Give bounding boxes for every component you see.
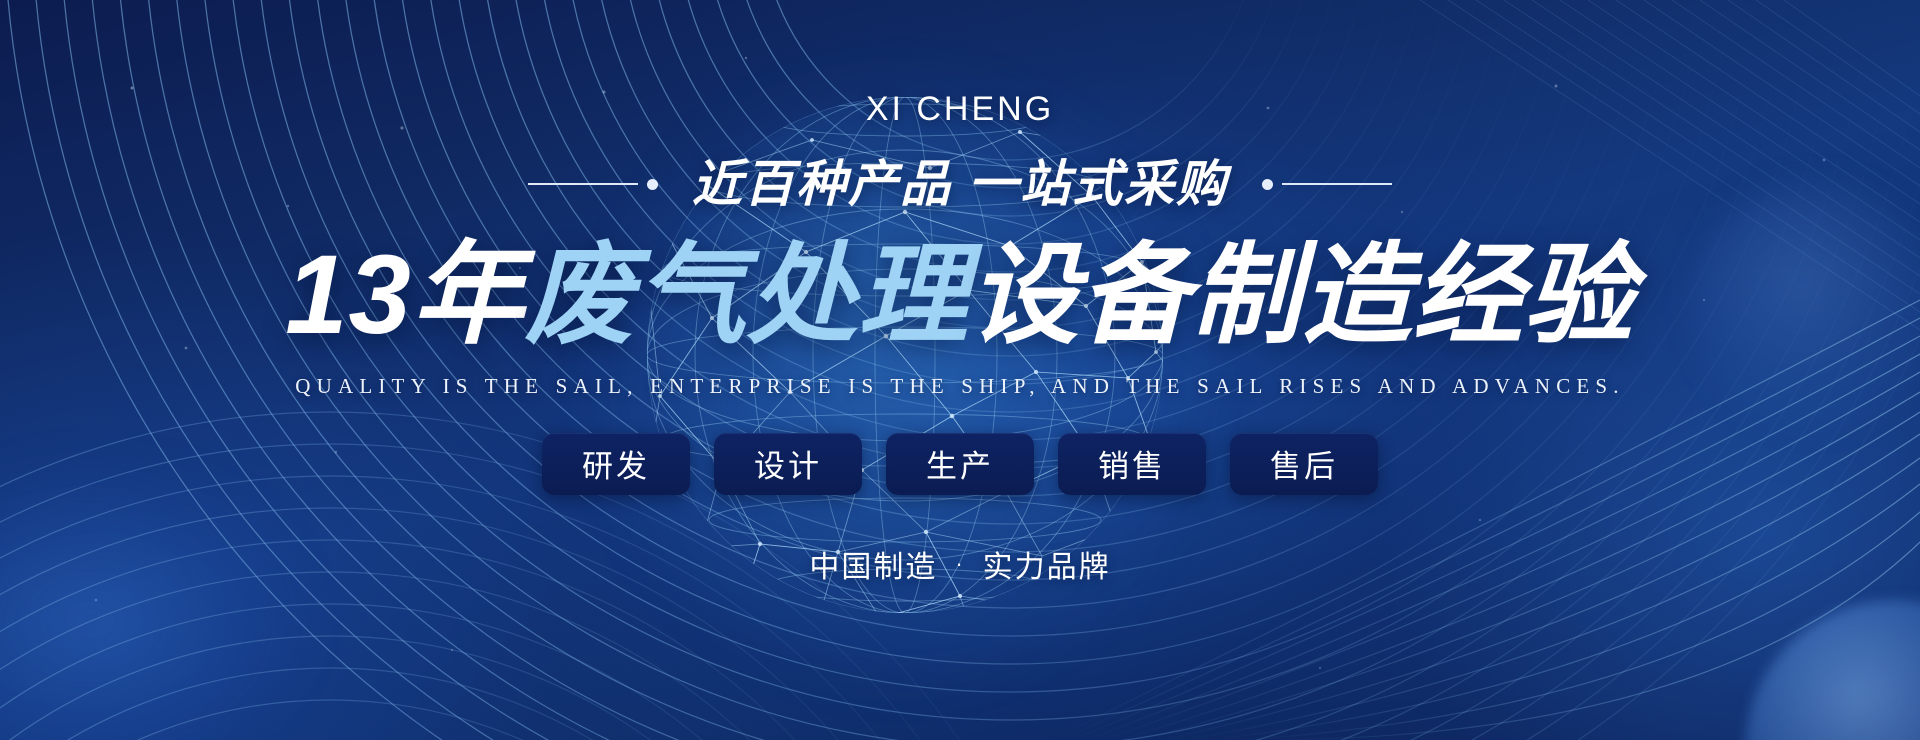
banner-tagline-en: QUALITY IS THE SAIL, ENTERPRISE IS THE S…	[295, 374, 1625, 399]
headline-years: 13年	[285, 232, 525, 357]
pill-design[interactable]: 设计	[714, 433, 862, 495]
headline-accent: 废气处理	[525, 234, 969, 357]
footnote-left: 中国制造	[809, 542, 937, 586]
banner-footnote: 中国制造 · 实力品牌	[809, 542, 1110, 586]
footnote-right: 实力品牌	[983, 542, 1111, 586]
pill-rnd[interactable]: 研发	[542, 433, 690, 495]
pill-aftersales[interactable]: 售后	[1230, 433, 1378, 495]
pill-production[interactable]: 生产	[886, 433, 1034, 495]
pill-sales[interactable]: 销售	[1058, 433, 1206, 495]
subtitle-row: 近百种产品 一站式采购	[528, 159, 1392, 209]
decorative-line-left	[528, 179, 658, 190]
brand-name-en: XI CHENG	[866, 92, 1054, 126]
banner-subtitle: 近百种产品 一站式采购	[692, 159, 1228, 209]
headline-tail: 设备制造经验	[969, 234, 1635, 357]
capability-pill-list: 研发 设计 生产 销售 售后	[542, 433, 1378, 495]
decorative-line-right	[1262, 179, 1392, 190]
banner-content: XI CHENG 近百种产品 一站式采购 13年废气处理设备制造经验 QUALI…	[0, 0, 1920, 740]
hero-banner: XI CHENG 近百种产品 一站式采购 13年废气处理设备制造经验 QUALI…	[0, 0, 1920, 740]
footnote-separator-icon: ·	[955, 551, 964, 577]
banner-headline: 13年废气处理设备制造经验	[285, 235, 1635, 356]
